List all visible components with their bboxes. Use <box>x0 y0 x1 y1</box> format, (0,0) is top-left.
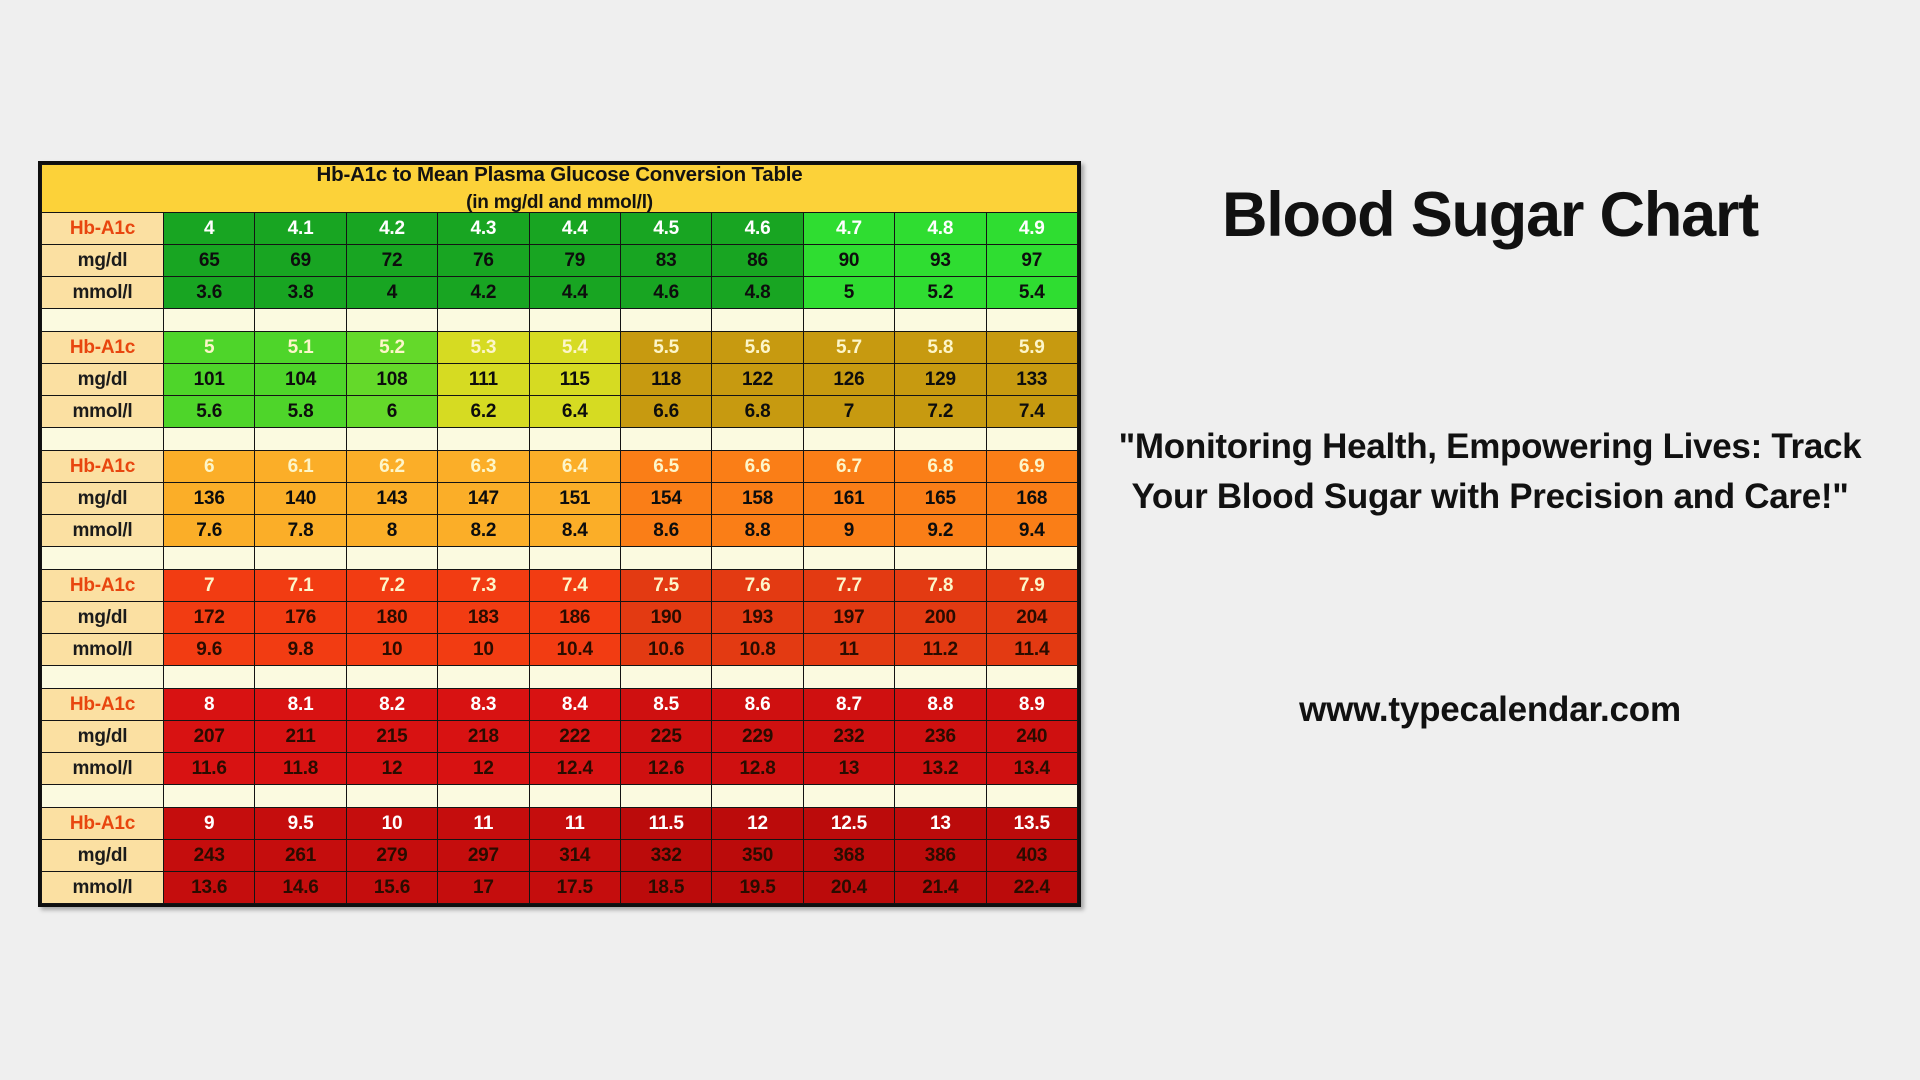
table-title: Hb-A1c to Mean Plasma Glucose Conversion… <box>42 165 1078 213</box>
cell-mmoll: 17 <box>438 871 529 903</box>
cell-mmoll: 4.2 <box>438 276 529 308</box>
cell-a1c: 5.4 <box>529 331 620 363</box>
cell-a1c: 4.9 <box>986 212 1077 244</box>
cell-mmoll: 5.4 <box>986 276 1077 308</box>
website-url: www.typecalendar.com <box>1090 690 1890 730</box>
block-spacer-row <box>42 308 1078 331</box>
spacer-cell <box>529 784 620 807</box>
spacer-cell <box>438 784 529 807</box>
cell-mgdl: 101 <box>164 363 255 395</box>
cell-mmoll: 6 <box>346 395 437 427</box>
cell-mmoll: 3.8 <box>255 276 346 308</box>
table-row-mmoll: mmol/l11.611.8121212.412.612.81313.213.4 <box>42 752 1078 784</box>
spacer-cell <box>712 665 803 688</box>
spacer-cell <box>895 665 986 688</box>
row-label-mmoll: mmol/l <box>42 633 164 665</box>
cell-mmoll: 7.8 <box>255 514 346 546</box>
row-label-mmoll: mmol/l <box>42 871 164 903</box>
spacer-cell <box>620 665 711 688</box>
cell-a1c: 4.2 <box>346 212 437 244</box>
page-root: Hb-A1c to Mean Plasma Glucose Conversion… <box>0 0 1920 1080</box>
cell-a1c: 8.9 <box>986 688 1077 720</box>
cell-a1c: 8.7 <box>803 688 894 720</box>
cell-a1c: 4.3 <box>438 212 529 244</box>
cell-a1c: 11.5 <box>620 807 711 839</box>
cell-mmoll: 7.2 <box>895 395 986 427</box>
cell-mgdl: 79 <box>529 244 620 276</box>
cell-a1c: 8.6 <box>712 688 803 720</box>
spacer-cell <box>42 308 164 331</box>
cell-a1c: 6.8 <box>895 450 986 482</box>
cell-mgdl: 172 <box>164 601 255 633</box>
cell-mgdl: 83 <box>620 244 711 276</box>
cell-a1c: 5 <box>164 331 255 363</box>
cell-mmoll: 10 <box>438 633 529 665</box>
spacer-cell <box>42 427 164 450</box>
spacer-cell <box>164 784 255 807</box>
cell-mgdl: 204 <box>986 601 1077 633</box>
spacer-cell <box>529 427 620 450</box>
row-label-mmoll: mmol/l <box>42 276 164 308</box>
table-title-line2: (in mg/dl and mmol/l) <box>42 193 1077 212</box>
cell-mgdl: 368 <box>803 839 894 871</box>
table-row-mgdl: mg/dl136140143147151154158161165168 <box>42 482 1078 514</box>
cell-mgdl: 232 <box>803 720 894 752</box>
cell-mmoll: 5.6 <box>164 395 255 427</box>
cell-mgdl: 243 <box>164 839 255 871</box>
cell-a1c: 8 <box>164 688 255 720</box>
spacer-cell <box>164 308 255 331</box>
row-label-mgdl: mg/dl <box>42 720 164 752</box>
cell-mmoll: 18.5 <box>620 871 711 903</box>
cell-mgdl: 104 <box>255 363 346 395</box>
spacer-cell <box>803 665 894 688</box>
cell-mmoll: 6.4 <box>529 395 620 427</box>
cell-mgdl: 69 <box>255 244 346 276</box>
cell-mgdl: 193 <box>712 601 803 633</box>
row-label-a1c: Hb-A1c <box>42 212 164 244</box>
table-row-a1c: Hb-A1c44.14.24.34.44.54.64.74.84.9 <box>42 212 1078 244</box>
cell-a1c: 6.7 <box>803 450 894 482</box>
cell-mgdl: 97 <box>986 244 1077 276</box>
spacer-cell <box>42 546 164 569</box>
cell-a1c: 6.6 <box>712 450 803 482</box>
cell-mmoll: 8.6 <box>620 514 711 546</box>
cell-a1c: 9 <box>164 807 255 839</box>
row-label-a1c: Hb-A1c <box>42 331 164 363</box>
cell-mmoll: 14.6 <box>255 871 346 903</box>
cell-a1c: 5.3 <box>438 331 529 363</box>
spacer-cell <box>803 308 894 331</box>
spacer-cell <box>986 546 1077 569</box>
cell-mgdl: 236 <box>895 720 986 752</box>
cell-mmoll: 15.6 <box>346 871 437 903</box>
spacer-cell <box>346 665 437 688</box>
table-row-mgdl: mg/dl207211215218222225229232236240 <box>42 720 1078 752</box>
cell-mmoll: 8.2 <box>438 514 529 546</box>
spacer-cell <box>895 308 986 331</box>
cell-a1c: 8.1 <box>255 688 346 720</box>
cell-mmoll: 9.2 <box>895 514 986 546</box>
cell-mmoll: 10 <box>346 633 437 665</box>
table-row-mgdl: mg/dl65697276798386909397 <box>42 244 1078 276</box>
cell-a1c: 5.8 <box>895 331 986 363</box>
cell-mmoll: 8 <box>346 514 437 546</box>
cell-a1c: 5.2 <box>346 331 437 363</box>
cell-mmoll: 4.8 <box>712 276 803 308</box>
cell-mgdl: 211 <box>255 720 346 752</box>
cell-mgdl: 93 <box>895 244 986 276</box>
cell-mmoll: 10.4 <box>529 633 620 665</box>
cell-a1c: 8.8 <box>895 688 986 720</box>
cell-a1c: 4.1 <box>255 212 346 244</box>
cell-mgdl: 118 <box>620 363 711 395</box>
cell-mgdl: 207 <box>164 720 255 752</box>
conversion-table: Hb-A1c to Mean Plasma Glucose Conversion… <box>41 164 1078 904</box>
block-spacer-row <box>42 665 1078 688</box>
cell-mgdl: 180 <box>346 601 437 633</box>
cell-mgdl: 218 <box>438 720 529 752</box>
cell-mmoll: 11.2 <box>895 633 986 665</box>
cell-mgdl: 76 <box>438 244 529 276</box>
block-spacer-row <box>42 427 1078 450</box>
cell-a1c: 5.7 <box>803 331 894 363</box>
page-title: Blood Sugar Chart <box>1090 182 1890 248</box>
row-label-a1c: Hb-A1c <box>42 807 164 839</box>
cell-mgdl: 190 <box>620 601 711 633</box>
table-row-a1c: Hb-A1c55.15.25.35.45.55.65.75.85.9 <box>42 331 1078 363</box>
spacer-cell <box>346 308 437 331</box>
cell-mmoll: 13 <box>803 752 894 784</box>
cell-a1c: 7.8 <box>895 569 986 601</box>
spacer-cell <box>255 427 346 450</box>
cell-mmoll: 12.4 <box>529 752 620 784</box>
table-row-mmoll: mmol/l5.65.866.26.46.66.877.27.4 <box>42 395 1078 427</box>
spacer-cell <box>438 308 529 331</box>
cell-mgdl: 386 <box>895 839 986 871</box>
cell-a1c: 7.5 <box>620 569 711 601</box>
cell-a1c: 10 <box>346 807 437 839</box>
cell-mgdl: 403 <box>986 839 1077 871</box>
cell-a1c: 11 <box>438 807 529 839</box>
block-spacer-row <box>42 784 1078 807</box>
table-row-a1c: Hb-A1c99.510111111.51212.51313.5 <box>42 807 1078 839</box>
row-label-mgdl: mg/dl <box>42 482 164 514</box>
cell-mgdl: 158 <box>712 482 803 514</box>
row-label-a1c: Hb-A1c <box>42 569 164 601</box>
cell-mmoll: 13.6 <box>164 871 255 903</box>
cell-mmoll: 9.8 <box>255 633 346 665</box>
cell-mmoll: 11 <box>803 633 894 665</box>
cell-mmoll: 13.4 <box>986 752 1077 784</box>
spacer-cell <box>620 308 711 331</box>
cell-a1c: 7.1 <box>255 569 346 601</box>
table-row-mgdl: mg/dl172176180183186190193197200204 <box>42 601 1078 633</box>
table-row-a1c: Hb-A1c77.17.27.37.47.57.67.77.87.9 <box>42 569 1078 601</box>
cell-a1c: 4 <box>164 212 255 244</box>
spacer-cell <box>712 546 803 569</box>
spacer-cell <box>803 427 894 450</box>
cell-mgdl: 126 <box>803 363 894 395</box>
cell-mmoll: 12.6 <box>620 752 711 784</box>
spacer-cell <box>255 546 346 569</box>
cell-a1c: 12 <box>712 807 803 839</box>
cell-mmoll: 3.6 <box>164 276 255 308</box>
cell-mgdl: 140 <box>255 482 346 514</box>
right-text-panel: Blood Sugar Chart "Monitoring Health, Em… <box>1090 150 1890 730</box>
table-row-a1c: Hb-A1c88.18.28.38.48.58.68.78.88.9 <box>42 688 1078 720</box>
cell-mmoll: 12 <box>346 752 437 784</box>
cell-mgdl: 168 <box>986 482 1077 514</box>
cell-mmoll: 8.4 <box>529 514 620 546</box>
cell-mmoll: 5 <box>803 276 894 308</box>
cell-a1c: 13.5 <box>986 807 1077 839</box>
cell-mmoll: 17.5 <box>529 871 620 903</box>
cell-mgdl: 297 <box>438 839 529 871</box>
spacer-cell <box>255 665 346 688</box>
row-label-mgdl: mg/dl <box>42 244 164 276</box>
cell-mmoll: 11.8 <box>255 752 346 784</box>
spacer-cell <box>529 546 620 569</box>
cell-mgdl: 200 <box>895 601 986 633</box>
cell-mmoll: 7.6 <box>164 514 255 546</box>
cell-a1c: 8.2 <box>346 688 437 720</box>
cell-mgdl: 143 <box>346 482 437 514</box>
cell-a1c: 7.7 <box>803 569 894 601</box>
cell-mmoll: 20.4 <box>803 871 894 903</box>
table-row-a1c: Hb-A1c66.16.26.36.46.56.66.76.86.9 <box>42 450 1078 482</box>
spacer-cell <box>164 665 255 688</box>
cell-mmoll: 19.5 <box>712 871 803 903</box>
cell-a1c: 4.4 <box>529 212 620 244</box>
cell-mgdl: 154 <box>620 482 711 514</box>
row-label-a1c: Hb-A1c <box>42 450 164 482</box>
cell-mmoll: 13.2 <box>895 752 986 784</box>
cell-mmoll: 9.6 <box>164 633 255 665</box>
spacer-cell <box>712 784 803 807</box>
spacer-cell <box>438 427 529 450</box>
spacer-cell <box>255 308 346 331</box>
spacer-cell <box>346 546 437 569</box>
table-row-mgdl: mg/dl243261279297314332350368386403 <box>42 839 1078 871</box>
block-spacer-row <box>42 546 1078 569</box>
cell-a1c: 6 <box>164 450 255 482</box>
row-label-mgdl: mg/dl <box>42 601 164 633</box>
cell-a1c: 7.2 <box>346 569 437 601</box>
spacer-cell <box>895 784 986 807</box>
cell-mgdl: 183 <box>438 601 529 633</box>
cell-a1c: 7.6 <box>712 569 803 601</box>
cell-mgdl: 261 <box>255 839 346 871</box>
table-row-mgdl: mg/dl101104108111115118122126129133 <box>42 363 1078 395</box>
spacer-cell <box>803 784 894 807</box>
spacer-cell <box>986 665 1077 688</box>
cell-a1c: 11 <box>529 807 620 839</box>
spacer-cell <box>529 308 620 331</box>
cell-a1c: 5.5 <box>620 331 711 363</box>
cell-mgdl: 279 <box>346 839 437 871</box>
cell-mmoll: 11.6 <box>164 752 255 784</box>
cell-mgdl: 129 <box>895 363 986 395</box>
spacer-cell <box>712 427 803 450</box>
cell-a1c: 7.4 <box>529 569 620 601</box>
spacer-cell <box>346 784 437 807</box>
cell-a1c: 9.5 <box>255 807 346 839</box>
cell-mgdl: 65 <box>164 244 255 276</box>
cell-mmoll: 5.8 <box>255 395 346 427</box>
spacer-cell <box>346 427 437 450</box>
cell-mmoll: 9.4 <box>986 514 1077 546</box>
cell-mmoll: 5.2 <box>895 276 986 308</box>
cell-a1c: 5.1 <box>255 331 346 363</box>
cell-a1c: 7.3 <box>438 569 529 601</box>
cell-mgdl: 186 <box>529 601 620 633</box>
cell-mgdl: 225 <box>620 720 711 752</box>
cell-mgdl: 240 <box>986 720 1077 752</box>
cell-a1c: 12.5 <box>803 807 894 839</box>
cell-mmoll: 4.4 <box>529 276 620 308</box>
cell-a1c: 6.4 <box>529 450 620 482</box>
cell-mgdl: 108 <box>346 363 437 395</box>
cell-mgdl: 161 <box>803 482 894 514</box>
cell-a1c: 4.5 <box>620 212 711 244</box>
table-title-row: Hb-A1c to Mean Plasma Glucose Conversion… <box>42 165 1078 213</box>
row-label-mgdl: mg/dl <box>42 839 164 871</box>
cell-mgdl: 111 <box>438 363 529 395</box>
spacer-cell <box>620 427 711 450</box>
cell-mmoll: 10.6 <box>620 633 711 665</box>
cell-mgdl: 133 <box>986 363 1077 395</box>
spacer-cell <box>529 665 620 688</box>
cell-mgdl: 147 <box>438 482 529 514</box>
cell-a1c: 6.5 <box>620 450 711 482</box>
cell-a1c: 7 <box>164 569 255 601</box>
conversion-table-body: Hb-A1c to Mean Plasma Glucose Conversion… <box>42 165 1078 904</box>
cell-mmoll: 11.4 <box>986 633 1077 665</box>
cell-mmoll: 7 <box>803 395 894 427</box>
cell-mmoll: 6.6 <box>620 395 711 427</box>
cell-mmoll: 4 <box>346 276 437 308</box>
table-row-mmoll: mmol/l3.63.844.24.44.64.855.25.4 <box>42 276 1078 308</box>
spacer-cell <box>803 546 894 569</box>
table-row-mmoll: mmol/l13.614.615.61717.518.519.520.421.4… <box>42 871 1078 903</box>
cell-mgdl: 197 <box>803 601 894 633</box>
spacer-cell <box>255 784 346 807</box>
spacer-cell <box>164 546 255 569</box>
cell-a1c: 6.1 <box>255 450 346 482</box>
spacer-cell <box>164 427 255 450</box>
cell-a1c: 4.8 <box>895 212 986 244</box>
cell-mgdl: 332 <box>620 839 711 871</box>
row-label-mmoll: mmol/l <box>42 395 164 427</box>
cell-a1c: 13 <box>895 807 986 839</box>
cell-mgdl: 314 <box>529 839 620 871</box>
spacer-cell <box>895 546 986 569</box>
cell-a1c: 8.3 <box>438 688 529 720</box>
cell-mmoll: 8.8 <box>712 514 803 546</box>
cell-a1c: 6.3 <box>438 450 529 482</box>
spacer-cell <box>895 427 986 450</box>
spacer-cell <box>620 546 711 569</box>
cell-mgdl: 215 <box>346 720 437 752</box>
cell-a1c: 4.7 <box>803 212 894 244</box>
table-row-mmoll: mmol/l9.69.8101010.410.610.81111.211.4 <box>42 633 1078 665</box>
cell-a1c: 5.9 <box>986 331 1077 363</box>
conversion-table-panel: Hb-A1c to Mean Plasma Glucose Conversion… <box>38 161 1081 907</box>
cell-mmoll: 12 <box>438 752 529 784</box>
spacer-cell <box>438 665 529 688</box>
spacer-cell <box>712 308 803 331</box>
cell-mgdl: 176 <box>255 601 346 633</box>
table-title-line1: Hb-A1c to Mean Plasma Glucose Conversion… <box>42 165 1077 186</box>
cell-mgdl: 72 <box>346 244 437 276</box>
cell-mgdl: 115 <box>529 363 620 395</box>
cell-mgdl: 165 <box>895 482 986 514</box>
row-label-a1c: Hb-A1c <box>42 688 164 720</box>
cell-mgdl: 350 <box>712 839 803 871</box>
cell-mmoll: 10.8 <box>712 633 803 665</box>
spacer-cell <box>438 546 529 569</box>
cell-a1c: 7.9 <box>986 569 1077 601</box>
cell-mmoll: 9 <box>803 514 894 546</box>
cell-mmoll: 21.4 <box>895 871 986 903</box>
row-label-mmoll: mmol/l <box>42 752 164 784</box>
cell-mgdl: 229 <box>712 720 803 752</box>
cell-mgdl: 222 <box>529 720 620 752</box>
tagline-quote: "Monitoring Health, Empowering Lives: Tr… <box>1114 422 1866 521</box>
table-row-mmoll: mmol/l7.67.888.28.48.68.899.29.4 <box>42 514 1078 546</box>
cell-a1c: 8.4 <box>529 688 620 720</box>
cell-a1c: 5.6 <box>712 331 803 363</box>
spacer-cell <box>986 784 1077 807</box>
spacer-cell <box>42 784 164 807</box>
cell-mmoll: 4.6 <box>620 276 711 308</box>
spacer-cell <box>620 784 711 807</box>
cell-mmoll: 6.2 <box>438 395 529 427</box>
cell-a1c: 8.5 <box>620 688 711 720</box>
spacer-cell <box>986 427 1077 450</box>
cell-mmoll: 22.4 <box>986 871 1077 903</box>
cell-mgdl: 90 <box>803 244 894 276</box>
spacer-cell <box>986 308 1077 331</box>
cell-mmoll: 6.8 <box>712 395 803 427</box>
cell-a1c: 4.6 <box>712 212 803 244</box>
spacer-cell <box>42 665 164 688</box>
cell-mgdl: 136 <box>164 482 255 514</box>
row-label-mgdl: mg/dl <box>42 363 164 395</box>
cell-mgdl: 122 <box>712 363 803 395</box>
cell-mmoll: 12.8 <box>712 752 803 784</box>
cell-mgdl: 86 <box>712 244 803 276</box>
row-label-mmoll: mmol/l <box>42 514 164 546</box>
cell-mgdl: 151 <box>529 482 620 514</box>
cell-a1c: 6.9 <box>986 450 1077 482</box>
cell-mmoll: 7.4 <box>986 395 1077 427</box>
cell-a1c: 6.2 <box>346 450 437 482</box>
